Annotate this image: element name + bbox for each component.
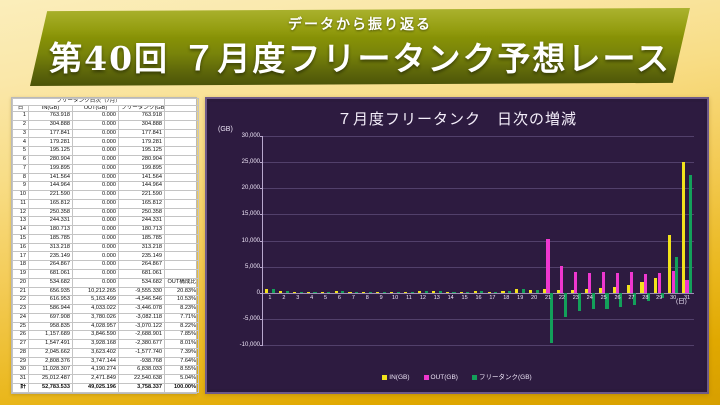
chart-bar	[335, 291, 338, 292]
cell-out: 0.000	[73, 138, 119, 147]
cell-in: 52,783.533	[29, 383, 73, 392]
cell-pct	[165, 217, 199, 226]
cell-out: 0.000	[73, 112, 119, 121]
table-header-row: 日 IN(GB) OUT(GB) フリータンク(GB)	[13, 105, 199, 112]
chart-bar	[272, 289, 275, 293]
cell-pct	[165, 269, 199, 278]
cell-day: 12	[13, 208, 29, 217]
cell-ft: 280.904	[119, 156, 165, 165]
cell-pct: 7.39%	[165, 348, 199, 357]
cell-day: 14	[13, 226, 29, 235]
table-row: 22616.9535,163.499-4,546.54610.53%	[13, 296, 199, 305]
cell-out: 0.000	[73, 156, 119, 165]
cell-day: 28	[13, 348, 29, 357]
cell-day: 27	[13, 340, 29, 349]
chart-bar	[452, 292, 455, 293]
y-axis-tick-label: 20,000	[242, 185, 260, 191]
chart-bar	[369, 292, 372, 293]
cell-day: 計	[13, 383, 29, 392]
data-table-panel: フリータンク日次（7月） 日 IN(GB) OUT(GB) フリータンク(GB)…	[11, 97, 197, 394]
table-row: 20534.6820.000534.682OUT構成比	[13, 278, 199, 287]
table-row: 23586.9444,033.022-3,446.0788.23%	[13, 305, 199, 314]
cell-pct	[165, 261, 199, 270]
chart-bar	[383, 292, 386, 293]
chart-bar	[508, 291, 511, 292]
chart-bars	[263, 136, 694, 345]
y-axis-tick-label: 30,000	[242, 133, 260, 139]
cell-out: 0.000	[73, 252, 119, 261]
cell-ft: 141.564	[119, 173, 165, 182]
chart-bar	[307, 292, 310, 293]
table-row: 282,045.6623,623.402-1,577.7407.39%	[13, 348, 199, 357]
table-row: 16313.2180.000313.218	[13, 243, 199, 252]
chart-bar	[397, 292, 400, 293]
chart-bar	[265, 289, 268, 293]
cell-in: 25,012.487	[29, 375, 73, 384]
cell-pct: OUT構成比	[165, 278, 199, 287]
cell-day: 30	[13, 366, 29, 375]
cell-ft: -938.768	[119, 357, 165, 366]
x-axis-name: (日)	[676, 295, 687, 305]
cell-out: 3,780.026	[73, 313, 119, 322]
x-axis-tick-label: 24	[583, 295, 597, 301]
cell-day: 22	[13, 296, 29, 305]
cell-in: 250.358	[29, 208, 73, 217]
cell-in: 195.125	[29, 147, 73, 156]
x-axis-tick-label: 18	[499, 295, 513, 301]
cell-ft: 199.895	[119, 164, 165, 173]
cell-in: 177.841	[29, 129, 73, 138]
cell-ft: -1,577.740	[119, 348, 165, 357]
x-axis-tick-label: 17	[485, 295, 499, 301]
cell-in: 2,808.376	[29, 357, 73, 366]
x-axis-tick-label: 10	[388, 295, 402, 301]
y-axis-tick-label: -5,000	[243, 316, 260, 322]
cell-in: 144.964	[29, 182, 73, 191]
table-title-spacer	[165, 99, 199, 106]
chart-plot-area: 30,00025,00020,00015,00010,0005,0000-5,0…	[262, 136, 694, 345]
cell-day: 19	[13, 269, 29, 278]
header-banner: データから振り返る 第40回 ７月度フリータンク予想レース	[0, 0, 720, 92]
table-row: 3125,012.4872,471.84922,540.6385.04%	[13, 375, 199, 384]
cell-ft: 185.785	[119, 234, 165, 243]
chart-bar	[279, 291, 282, 293]
cell-day: 4	[13, 138, 29, 147]
chart-bar	[536, 290, 539, 293]
cell-in: 11,028.307	[29, 366, 73, 375]
chart-bar	[293, 292, 296, 293]
cell-day: 3	[13, 129, 29, 138]
legend-item: OUT(GB)	[424, 374, 458, 381]
table-row: 21656.93510,212.265-9,555.33020.83%	[13, 287, 199, 296]
cell-ft: 22,540.638	[119, 375, 165, 384]
chart-bar	[689, 175, 692, 293]
cell-out: 0.000	[73, 243, 119, 252]
cell-ft: 763.918	[119, 112, 165, 121]
cell-ft: 177.841	[119, 129, 165, 138]
cell-out: 0.000	[73, 173, 119, 182]
cell-pct: 20.83%	[165, 287, 199, 296]
cell-in: 697.908	[29, 313, 73, 322]
chart-bar	[300, 292, 303, 293]
ribbon-gloss	[30, 8, 690, 38]
table-row: 9144.9640.000144.964	[13, 182, 199, 191]
chart-bar	[362, 292, 365, 293]
legend-swatch	[424, 375, 429, 380]
chart-bar	[630, 272, 633, 293]
cell-out: 3,928.168	[73, 340, 119, 349]
cell-day: 7	[13, 164, 29, 173]
cell-ft: 304.888	[119, 120, 165, 129]
table-row: 18264.8670.000264.867	[13, 261, 199, 270]
cell-pct: 10.53%	[165, 296, 199, 305]
ribbon-shape	[30, 8, 690, 86]
y-axis-unit-label: (GB)	[218, 126, 233, 133]
x-axis-tick-label: 27	[624, 295, 638, 301]
cell-ft: 144.964	[119, 182, 165, 191]
table-row: 271,547.4913,928.168-2,380.6778.01%	[13, 340, 199, 349]
chart-bar	[390, 292, 393, 293]
col-header-out: OUT(GB)	[73, 105, 119, 112]
cell-pct: 5.04%	[165, 375, 199, 384]
cell-day: 18	[13, 261, 29, 270]
x-axis-tick-label: 19	[513, 295, 527, 301]
cell-out: 4,190.274	[73, 366, 119, 375]
cell-out: 0.000	[73, 199, 119, 208]
cell-pct	[165, 120, 199, 129]
cell-pct: 8.22%	[165, 322, 199, 331]
cell-out: 3,846.590	[73, 331, 119, 340]
cell-day: 31	[13, 375, 29, 384]
col-header-day: 日	[13, 105, 29, 112]
chart-bar	[327, 292, 330, 293]
chart-bar	[675, 257, 678, 293]
cell-out: 5,163.499	[73, 296, 119, 305]
cell-out: 0.000	[73, 269, 119, 278]
legend-item: フリータンク(GB)	[472, 374, 532, 381]
x-axis-tick-label: 9	[374, 295, 388, 301]
y-axis-tick-label: 5,000	[245, 264, 260, 270]
cell-ft: 6,838.033	[119, 366, 165, 375]
x-axis-tick-label: 21	[541, 295, 555, 301]
cell-in: 235.149	[29, 252, 73, 261]
cell-in: 280.904	[29, 156, 73, 165]
table-row: 8141.5640.000141.564	[13, 173, 199, 182]
cell-ft: 244.331	[119, 217, 165, 226]
cell-pct	[165, 191, 199, 200]
col-header-in: IN(GB)	[29, 105, 73, 112]
cell-out: 0.000	[73, 217, 119, 226]
cell-ft: 165.812	[119, 199, 165, 208]
cell-in: 586.944	[29, 305, 73, 314]
table-row: 11165.8120.000165.812	[13, 199, 199, 208]
x-axis-tick-label: 3	[291, 295, 305, 301]
cell-ft: 195.125	[119, 147, 165, 156]
cell-pct	[165, 199, 199, 208]
chart-bar	[602, 272, 605, 293]
table-row: 5195.1250.000195.125	[13, 147, 199, 156]
col-header-spacer	[165, 105, 199, 112]
cell-out: 0.000	[73, 278, 119, 287]
cell-day: 23	[13, 305, 29, 314]
cell-ft: -2,688.901	[119, 331, 165, 340]
cell-ft: 681.061	[119, 269, 165, 278]
cell-out: 0.000	[73, 261, 119, 270]
table-row: 15185.7850.000185.785	[13, 234, 199, 243]
cell-day: 11	[13, 199, 29, 208]
table-row: 17235.1490.000235.149	[13, 252, 199, 261]
x-axis-tick-label: 2	[277, 295, 291, 301]
chart-bar	[501, 291, 504, 292]
cell-pct	[165, 243, 199, 252]
cell-out: 10,212.265	[73, 287, 119, 296]
cell-pct	[165, 234, 199, 243]
cell-pct	[165, 173, 199, 182]
cell-in: 1,157.689	[29, 331, 73, 340]
x-axis-tick-label: 4	[305, 295, 319, 301]
x-axis-tick-label: 13	[430, 295, 444, 301]
cell-in: 264.867	[29, 261, 73, 270]
banner-title: 第40回 ７月度フリータンク予想レース	[0, 32, 720, 80]
chart-bar	[411, 292, 414, 293]
cell-day: 6	[13, 156, 29, 165]
table-row: 25958.8354,028.957-3,070.1228.22%	[13, 322, 199, 331]
table-row: 計52,783.53349,025.1963,758.337100.00%	[13, 383, 199, 392]
cell-day: 8	[13, 173, 29, 182]
cell-in: 616.953	[29, 296, 73, 305]
table-title-row: フリータンク日次（7月）	[13, 99, 199, 106]
cell-day: 26	[13, 331, 29, 340]
cell-pct	[165, 156, 199, 165]
col-header-freetank: フリータンク(GB)	[119, 105, 165, 112]
legend-swatch	[382, 375, 387, 380]
cell-pct	[165, 129, 199, 138]
chart-bar	[588, 273, 591, 293]
cell-ft: 180.713	[119, 226, 165, 235]
chart-panel: ７月度フリータンク 日次の増減 (GB) 30,00025,00020,0001…	[205, 97, 709, 394]
cell-pct: 100.00%	[165, 383, 199, 392]
cell-out: 4,028.957	[73, 322, 119, 331]
cell-out: 0.000	[73, 129, 119, 138]
cell-ft: -3,446.078	[119, 305, 165, 314]
x-axis-tick-label: 7	[346, 295, 360, 301]
cell-out: 0.000	[73, 182, 119, 191]
chart-legend: IN(GB)OUT(GB)フリータンク(GB)	[210, 371, 704, 381]
cell-in: 681.061	[29, 269, 73, 278]
chart-bar	[494, 292, 497, 293]
cell-in: 1,547.491	[29, 340, 73, 349]
cell-in: 165.812	[29, 199, 73, 208]
cell-ft: -3,070.122	[119, 322, 165, 331]
x-axis-tick-label: 22	[555, 295, 569, 301]
cell-in: 221.590	[29, 191, 73, 200]
cell-pct	[165, 182, 199, 191]
chart-bar	[529, 290, 532, 293]
legend-label: OUT(GB)	[431, 374, 458, 381]
table-row: 261,157.6893,846.590-2,688.9017.85%	[13, 331, 199, 340]
freetank-daily-table: フリータンク日次（7月） 日 IN(GB) OUT(GB) フリータンク(GB)…	[12, 98, 199, 393]
cell-out: 0.000	[73, 234, 119, 243]
cell-day: 24	[13, 313, 29, 322]
x-axis-tick-label: 1	[263, 295, 277, 301]
chart-bar	[446, 292, 449, 293]
cell-day: 16	[13, 243, 29, 252]
table-row: 3177.8410.000177.841	[13, 129, 199, 138]
cell-ft: 313.218	[119, 243, 165, 252]
chart-bar	[376, 292, 379, 293]
cell-in: 534.682	[29, 278, 73, 287]
cell-ft: -9,555.330	[119, 287, 165, 296]
table-row: 292,808.3763,747.144-938.7687.64%	[13, 357, 199, 366]
x-axis-tick-label: 14	[444, 295, 458, 301]
cell-out: 0.000	[73, 226, 119, 235]
chart-bar	[488, 292, 491, 293]
cell-out: 2,471.849	[73, 375, 119, 384]
chart-bar	[418, 291, 421, 292]
cell-pct	[165, 147, 199, 156]
x-axis-tick-label: 8	[360, 295, 374, 301]
x-axis-tick-label: 20	[527, 295, 541, 301]
chart-bar	[616, 273, 619, 293]
cell-out: 0.000	[73, 120, 119, 129]
cell-in: 180.713	[29, 226, 73, 235]
cell-pct: 7.85%	[165, 331, 199, 340]
legend-label: フリータンク(GB)	[479, 374, 532, 381]
table-row: 13244.3310.000244.331	[13, 217, 199, 226]
cell-day: 10	[13, 191, 29, 200]
table-row: 19681.0610.000681.061	[13, 269, 199, 278]
table-row: 4179.2810.000179.281	[13, 138, 199, 147]
x-axis-tick-label: 11	[402, 295, 416, 301]
table-head: フリータンク日次（7月） 日 IN(GB) OUT(GB) フリータンク(GB)	[13, 99, 199, 112]
cell-in: 304.888	[29, 120, 73, 129]
x-axis-tick-label: 26	[611, 295, 625, 301]
cell-ft: 264.867	[119, 261, 165, 270]
cell-in: 958.835	[29, 322, 73, 331]
chart-bar	[658, 273, 661, 293]
cell-out: 0.000	[73, 208, 119, 217]
cell-out: 3,623.402	[73, 348, 119, 357]
y-axis-tick-label: -10,000	[240, 342, 260, 348]
y-axis-tick-label: 25,000	[242, 159, 260, 165]
table-row: 1763.9180.000763.918	[13, 112, 199, 121]
cell-pct	[165, 252, 199, 261]
cell-pct	[165, 138, 199, 147]
chart-bar	[546, 239, 549, 292]
x-axis-tick-label: 5	[319, 295, 333, 301]
table-row: 6280.9040.000280.904	[13, 156, 199, 165]
x-axis-tick-label: 25	[597, 295, 611, 301]
cell-out: 49,025.196	[73, 383, 119, 392]
chart-bar	[560, 266, 563, 293]
chart-bar	[404, 292, 407, 293]
chart-bar	[574, 272, 577, 293]
table-row: 10221.5900.000221.590	[13, 191, 199, 200]
cell-out: 0.000	[73, 191, 119, 200]
cell-in: 141.564	[29, 173, 73, 182]
chart-bar	[286, 291, 289, 293]
cell-pct	[165, 112, 199, 121]
table-row: 7199.8950.000199.895	[13, 164, 199, 173]
x-axis-tick-label: 23	[569, 295, 583, 301]
chart-bar	[313, 292, 316, 293]
chart-bar	[425, 291, 428, 292]
cell-day: 20	[13, 278, 29, 287]
x-axis-tick-label: 12	[416, 295, 430, 301]
legend-item: IN(GB)	[382, 374, 409, 381]
table-body: 1763.9180.000763.9182304.8880.000304.888…	[13, 112, 199, 393]
cell-in: 763.918	[29, 112, 73, 121]
x-axis-tick-label: 28	[638, 295, 652, 301]
chart-bar	[515, 289, 518, 293]
banner-subtitle: データから振り返る	[0, 14, 720, 34]
cell-day: 1	[13, 112, 29, 121]
cell-in: 244.331	[29, 217, 73, 226]
cell-ft: 250.358	[119, 208, 165, 217]
cell-pct: 8.55%	[165, 366, 199, 375]
cell-day: 13	[13, 217, 29, 226]
chart-bar	[439, 291, 442, 292]
cell-ft: -2,380.677	[119, 340, 165, 349]
x-axis-tick-label: 16	[472, 295, 486, 301]
y-axis-tick-mark	[260, 345, 263, 346]
table-row: 12250.3580.000250.358	[13, 208, 199, 217]
chart-bar	[682, 162, 685, 293]
cell-pct	[165, 226, 199, 235]
cell-ft: 3,758.337	[119, 383, 165, 392]
cell-in: 199.895	[29, 164, 73, 173]
cell-out: 4,033.022	[73, 305, 119, 314]
cell-day: 21	[13, 287, 29, 296]
cell-ft: 179.281	[119, 138, 165, 147]
cell-pct: 8.23%	[165, 305, 199, 314]
cell-out: 3,747.144	[73, 357, 119, 366]
chart-bar	[522, 289, 525, 293]
table-row: 14180.7130.000180.713	[13, 226, 199, 235]
cell-out: 0.000	[73, 164, 119, 173]
table-title: フリータンク日次（7月）	[13, 99, 165, 106]
cell-day: 29	[13, 357, 29, 366]
cell-pct: 7.64%	[165, 357, 199, 366]
cell-in: 656.935	[29, 287, 73, 296]
x-axis-tick-label: 15	[458, 295, 472, 301]
cell-day: 2	[13, 120, 29, 129]
x-axis-tick-label: 6	[332, 295, 346, 301]
chart-inner: ７月度フリータンク 日次の増減 (GB) 30,00025,00020,0001…	[210, 102, 704, 389]
cell-ft: -3,082.118	[119, 313, 165, 322]
chart-bar	[355, 292, 358, 293]
cell-day: 25	[13, 322, 29, 331]
chart-bar	[341, 291, 344, 292]
cell-day: 15	[13, 234, 29, 243]
cell-ft: -4,546.546	[119, 296, 165, 305]
cell-out: 0.000	[73, 147, 119, 156]
chart-title: ７月度フリータンク 日次の増減	[210, 108, 704, 129]
chart-bar	[321, 292, 324, 293]
cell-pct	[165, 208, 199, 217]
chart-bar	[474, 291, 477, 293]
y-axis-tick-label: 10,000	[242, 238, 260, 244]
y-axis-tick-label: 15,000	[242, 211, 260, 217]
chart-bar	[480, 291, 483, 293]
table-row: 3011,028.3074,190.2746,838.0338.55%	[13, 366, 199, 375]
table-row: 2304.8880.000304.888	[13, 120, 199, 129]
cell-pct	[165, 164, 199, 173]
cell-in: 313.218	[29, 243, 73, 252]
cell-day: 5	[13, 147, 29, 156]
cell-in: 179.281	[29, 138, 73, 147]
cell-ft: 235.149	[119, 252, 165, 261]
